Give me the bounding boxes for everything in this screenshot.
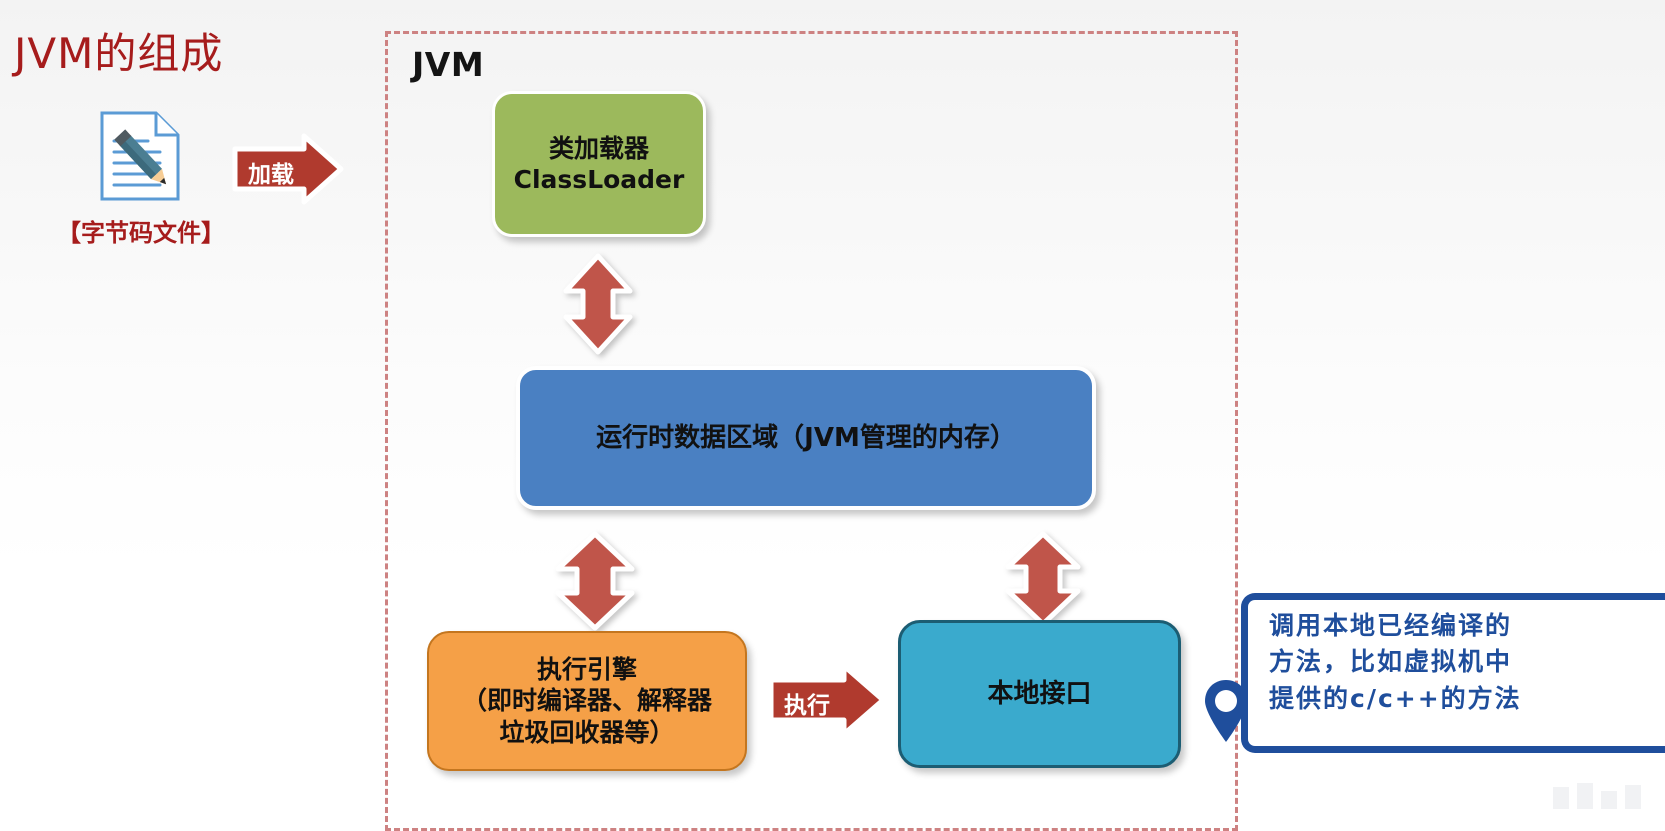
native-interface-node[interactable]: 本地接口 <box>898 620 1181 768</box>
corner-watermark <box>1549 781 1657 811</box>
native-interface-label: 本地接口 <box>987 678 1091 711</box>
page-title: JVM的组成 <box>14 31 223 77</box>
native-interface-callout-text: 调用本地已经编译的 方法，比如虚拟机中 提供的c/c++的方法 <box>1269 608 1665 717</box>
callout-line-3: 提供的c/c++的方法 <box>1269 681 1665 717</box>
execution-engine-line3: 垃圾回收器等） <box>462 717 712 748</box>
execute-arrow: 执行 <box>768 663 886 737</box>
map-pin-icon <box>1203 678 1249 744</box>
execution-engine-line2: （即时编译器、解释器 <box>462 685 712 716</box>
callout-line-2: 方法，比如虚拟机中 <box>1269 644 1665 680</box>
vertical-double-arrow-icon <box>561 253 635 355</box>
execution-engine-node[interactable]: 执行引擎 （即时编译器、解释器 垃圾回收器等） <box>427 631 747 771</box>
load-arrow: 加载 <box>232 133 344 205</box>
execution-engine-line1: 执行引擎 <box>462 654 712 685</box>
right-chevron-arrow-icon <box>232 133 344 205</box>
callout-line-1: 调用本地已经编译的 <box>1269 608 1665 644</box>
document-with-pencil-icon <box>98 110 182 202</box>
vertical-double-arrow-icon <box>553 531 637 631</box>
vertical-double-arrow-icon <box>1003 531 1083 627</box>
bytecode-file-caption: 【字节码文件】 <box>56 213 226 248</box>
runtime-data-area-label: 运行时数据区域（JVM管理的内存） <box>596 422 1016 455</box>
classloader-line1: 类加载器 <box>514 133 685 164</box>
classloader-node[interactable]: 类加载器 ClassLoader <box>492 91 706 237</box>
runtime-data-area-node[interactable]: 运行时数据区域（JVM管理的内存） <box>516 366 1096 510</box>
right-chevron-arrow-icon <box>768 663 886 737</box>
classloader-line2: ClassLoader <box>514 164 685 195</box>
jvm-label: JVM <box>412 45 484 84</box>
